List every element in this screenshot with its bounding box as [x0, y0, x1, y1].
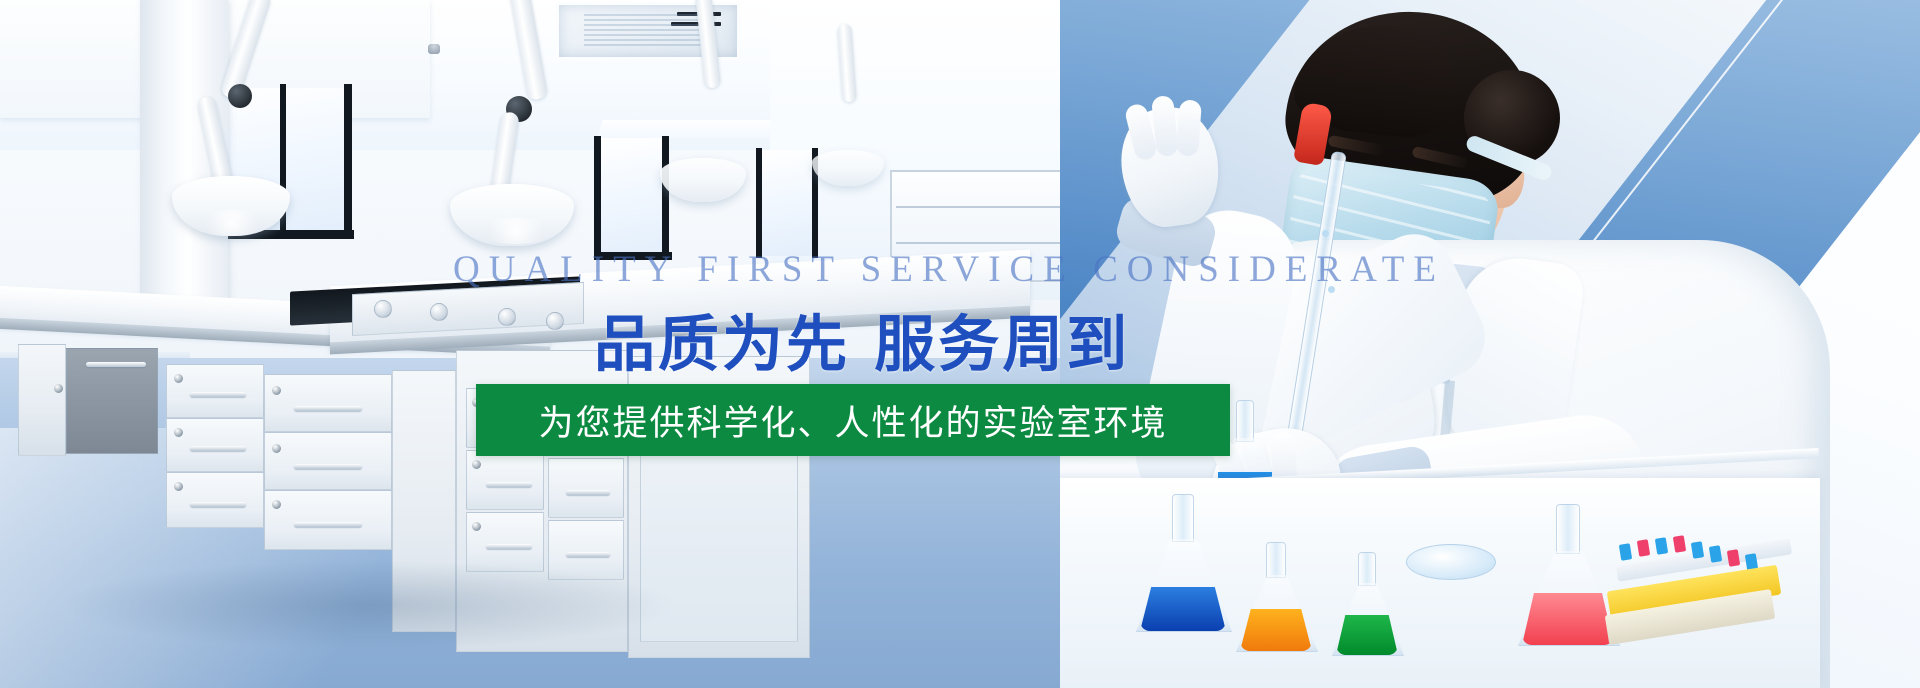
drawer-handle [486, 420, 532, 425]
flask-neck-orange [1266, 542, 1286, 578]
lamp-glow [196, 210, 268, 236]
drawer-handle [486, 482, 532, 487]
bench-side-cabinet [18, 344, 66, 456]
cabinet-drawer [166, 472, 264, 528]
pipette-droplet [1322, 230, 1329, 237]
petri-dish [1406, 544, 1496, 580]
drawer-handle [294, 464, 362, 469]
flask-liquid-orange [1240, 609, 1312, 651]
cabinet-lock [472, 522, 481, 531]
hero-banner: QUALITY FIRST SERVICE CONSIDERATE 品质为先 服… [0, 0, 1920, 688]
pipette-tip [1637, 539, 1650, 557]
bench-service-knob [374, 300, 392, 318]
drawer-handle [190, 446, 246, 451]
cabinet-drawer [166, 364, 264, 418]
lamp-joint [228, 84, 252, 108]
cabinet-drawer [264, 432, 392, 490]
sprinkler-head [428, 44, 440, 54]
cabinet-lock [272, 500, 281, 509]
drawer-handle [294, 406, 362, 411]
cabinet-drawer [264, 490, 392, 550]
window-mullion [756, 148, 762, 258]
flask-neck-blue [1172, 494, 1194, 542]
window-mullion [594, 136, 601, 260]
pipette-tip [1673, 535, 1686, 553]
window-sill [594, 252, 672, 260]
pipette-tip [1727, 549, 1740, 567]
cabinet-drawer [166, 418, 264, 472]
drawer-handle [566, 490, 610, 495]
drawer-handle [486, 544, 532, 549]
cabinet-drawer [264, 374, 392, 432]
lamp-glow [478, 218, 554, 244]
cabinet-lock [54, 384, 63, 393]
cabinet-drawer [466, 450, 544, 510]
held-flask-neck [1236, 400, 1254, 442]
drawer-handle [294, 522, 362, 527]
bench-floor-shadow [60, 560, 680, 650]
cabinet-lock [272, 444, 281, 453]
drawer-handle [190, 392, 246, 397]
pipette-tip [1619, 543, 1632, 561]
scientist-photo [1060, 0, 1920, 688]
window-mullion [662, 136, 669, 260]
drawer-handle [566, 428, 610, 433]
cabinet-lock [272, 386, 281, 395]
drawer-handle [190, 502, 246, 507]
cabinet-drawer [548, 458, 624, 518]
pipette-tip [1655, 537, 1668, 555]
window-glass [760, 150, 812, 256]
cabinet-lock [174, 482, 183, 491]
flask-liquid-blue [1140, 587, 1226, 631]
window-glass [600, 138, 664, 258]
flask-liquid-pink [1522, 593, 1614, 645]
bench-service-knob [430, 303, 448, 321]
cabinet-lock [174, 428, 183, 437]
cabinet-lock [472, 460, 481, 469]
cabinet-drawer [466, 388, 544, 448]
flask-liquid-green [1336, 615, 1398, 655]
flask-neck-pink [1556, 504, 1580, 554]
cabinet-lock [472, 398, 481, 407]
drawer-handle [86, 362, 146, 367]
cabinet-lock [174, 374, 183, 383]
flask-neck-green [1358, 552, 1376, 586]
window-mullion [344, 84, 352, 238]
pipette-droplet [1328, 286, 1335, 293]
drawer-handle [566, 552, 610, 557]
pipette-tip [1691, 541, 1704, 559]
bench-service-knob [498, 308, 516, 326]
glove-finger [1176, 99, 1202, 156]
bench-service-knob [546, 312, 564, 330]
cabinet-drawer [548, 396, 624, 456]
pipette-tip [1709, 545, 1722, 563]
